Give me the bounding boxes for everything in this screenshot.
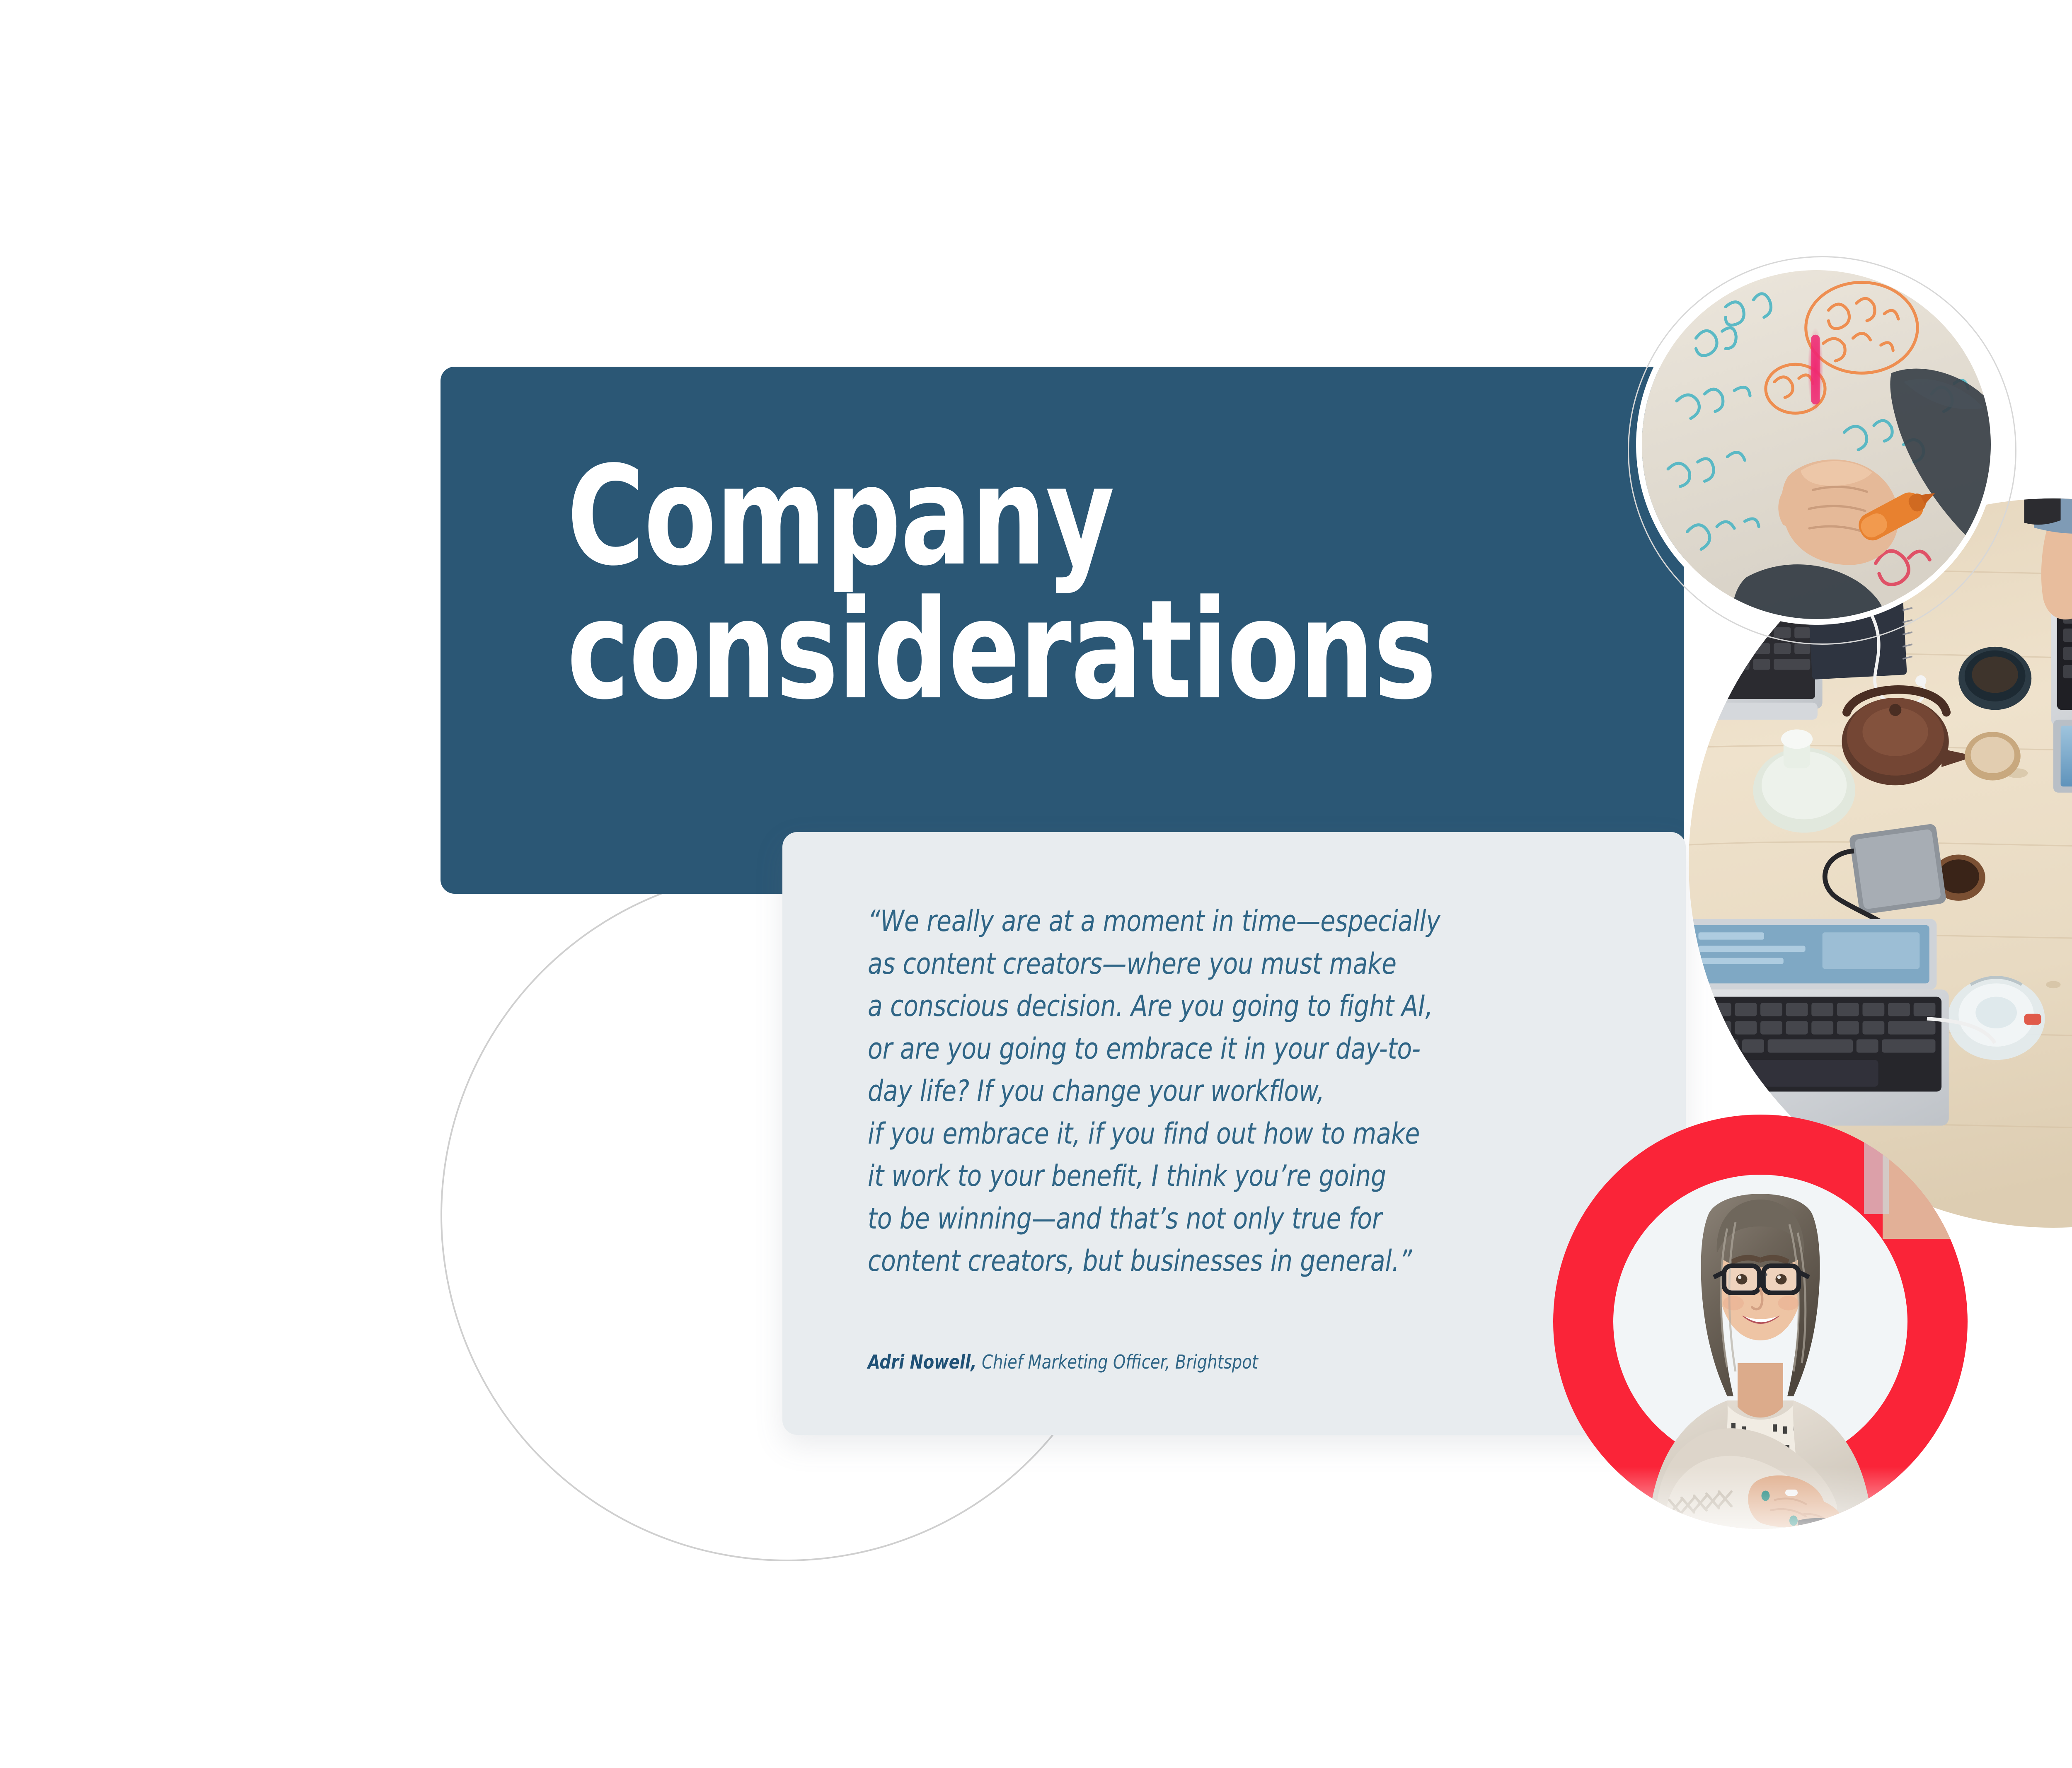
- whiteboard-photo-art: [1642, 270, 1991, 619]
- quote-card: “We really are at a moment in time—espec…: [782, 832, 1686, 1435]
- title-line-1: Company: [567, 450, 1513, 583]
- quote-line: it work to your benefit, I think you’re …: [868, 1155, 1531, 1197]
- portrait-photo: [1553, 1115, 1968, 1529]
- quote-line: to be winning—and that’s not only true f…: [868, 1197, 1531, 1240]
- page-title: Company considerations: [567, 450, 1513, 718]
- attribution-role: Chief Marketing Officer, Brightspot: [982, 1351, 1258, 1373]
- quote-attribution: Adri Nowell, Chief Marketing Officer, Br…: [868, 1351, 1585, 1373]
- quote-line: a conscious decision. Are you going to f…: [868, 985, 1531, 1028]
- quote-line: content creators, but businesses in gene…: [868, 1240, 1531, 1282]
- quote-line: if you embrace it, if you find out how t…: [868, 1113, 1531, 1155]
- title-line-2: considerations: [567, 583, 1513, 717]
- slide-canvas: Company considerations “We really are at…: [0, 0, 2072, 1768]
- portrait-badge: [1553, 1115, 1968, 1529]
- quote-line: “We really are at a moment in time—espec…: [868, 900, 1531, 943]
- quote-line: day life? If you change your workflow,: [868, 1070, 1531, 1113]
- quote-line: as content creators—where you must make: [868, 943, 1531, 985]
- quote-line: or are you going to embrace it in your d…: [868, 1028, 1531, 1070]
- whiteboard-photo: [1636, 264, 1997, 625]
- quote-text: “We really are at a moment in time—espec…: [868, 900, 1531, 1282]
- title-panel: Company considerations: [441, 367, 1684, 894]
- attribution-name: Adri Nowell,: [868, 1351, 977, 1373]
- portrait-photo-art: [1553, 1115, 1968, 1529]
